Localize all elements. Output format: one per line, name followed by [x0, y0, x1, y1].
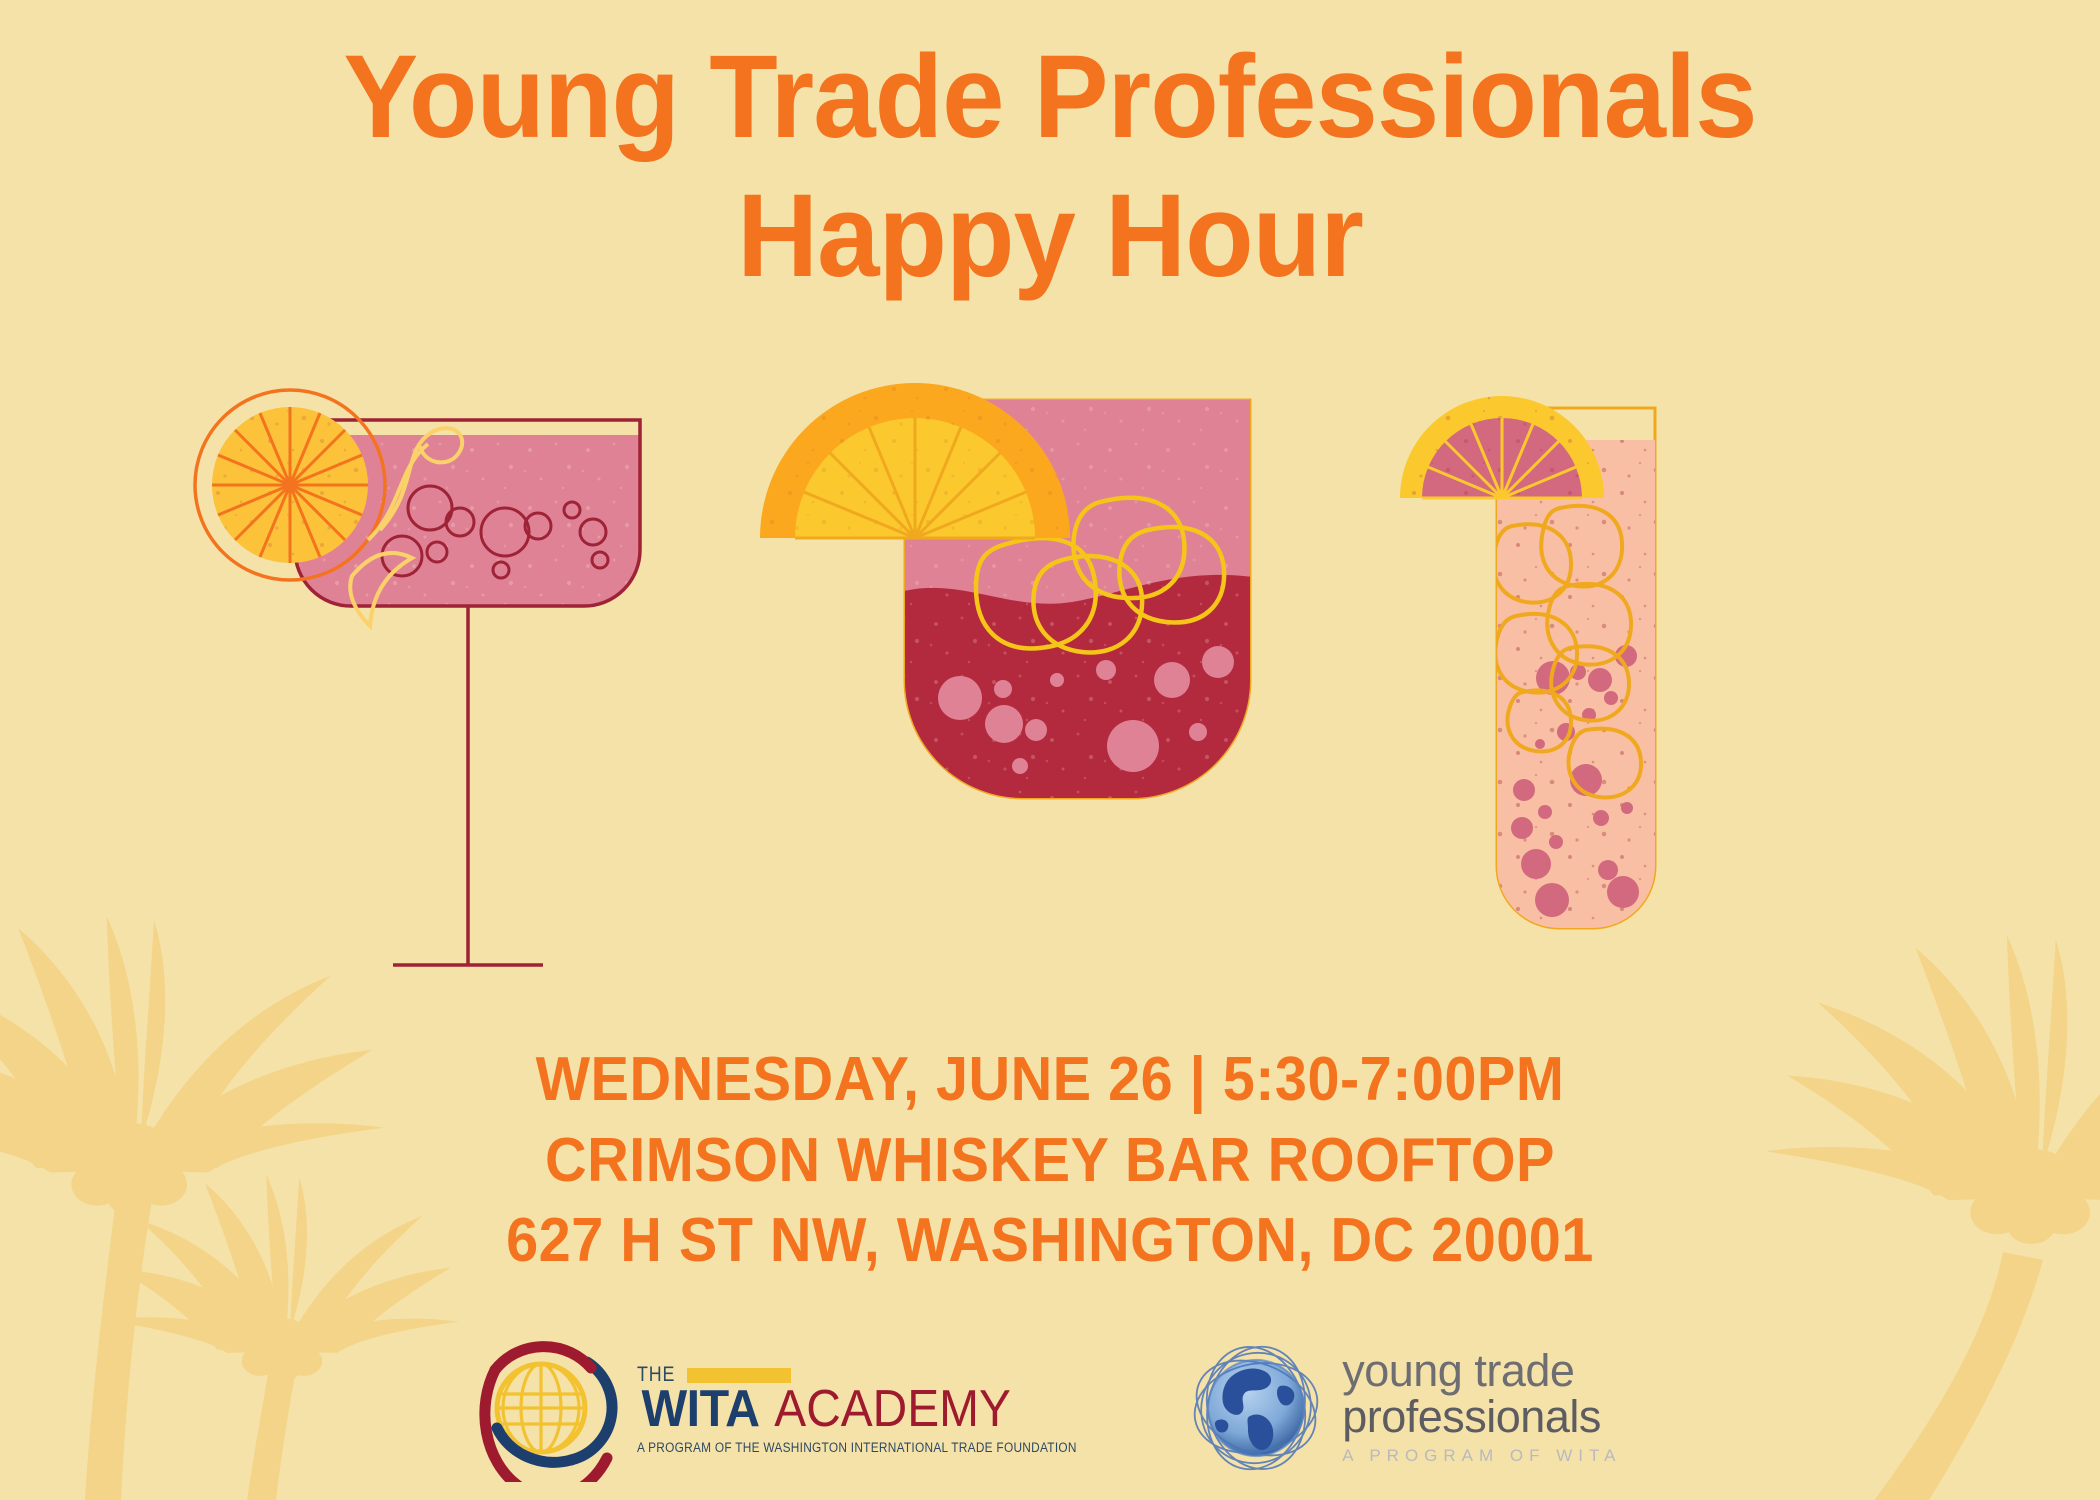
wita-wordmark: THE WITA ACADEMY A PROGRAM OF THE WASHIN… [637, 1359, 1137, 1455]
event-date-time: WEDNESDAY, JUNE 26 | 5:30-7:00PM [74, 1040, 2027, 1121]
rocks-glass [760, 383, 1260, 810]
wita-globe-icon [479, 1332, 629, 1482]
ytp-line-1: young trade [1342, 1348, 1621, 1394]
logo-row: THE WITA ACADEMY A PROGRAM OF THE WASHIN… [0, 1322, 2100, 1492]
wita-label: WITA [641, 1383, 759, 1435]
wita-academy-logo: THE WITA ACADEMY A PROGRAM OF THE WASHIN… [479, 1332, 1137, 1482]
coupe-glass [195, 390, 650, 965]
highball-glass [1400, 396, 1665, 940]
ytp-globe-icon [1188, 1332, 1328, 1482]
ytp-wordmark: young trade professionals A PROGRAM OF W… [1342, 1348, 1621, 1467]
cocktail-illustration-group [0, 380, 2100, 1020]
ytp-tagline: A PROGRAM OF WITA [1342, 1446, 1621, 1466]
event-address: 627 H ST NW, WASHINGTON, DC 20001 [74, 1201, 2027, 1282]
page-title: Young Trade Professionals Happy Hour [0, 28, 2100, 306]
ytp-line-2: professionals [1342, 1394, 1621, 1440]
young-trade-professionals-logo: young trade professionals A PROGRAM OF W… [1188, 1332, 1621, 1482]
event-details: WEDNESDAY, JUNE 26 | 5:30-7:00PM CRIMSON… [0, 1040, 2100, 1282]
flyer-canvas: Young Trade Professionals Happy Hour [0, 0, 2100, 1500]
title-line-2: Happy Hour [53, 167, 2048, 306]
title-line-1: Young Trade Professionals [53, 28, 2048, 167]
wita-tagline: A PROGRAM OF THE WASHINGTON INTERNATIONA… [637, 1440, 1077, 1455]
grapefruit-wedge-garnish [1400, 396, 1604, 498]
orange-wheel-garnish [195, 390, 385, 580]
academy-label: ACADEMY [774, 1383, 1011, 1435]
event-venue: CRIMSON WHISKEY BAR ROOFTOP [74, 1121, 2027, 1202]
